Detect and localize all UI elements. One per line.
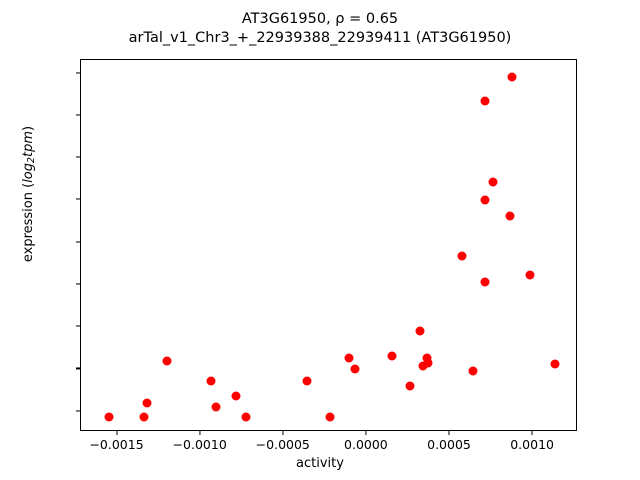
scatter-point <box>406 382 415 391</box>
scatter-point <box>480 196 489 205</box>
y-tick-mark <box>76 368 80 369</box>
scatter-point <box>140 412 149 421</box>
y-tick-mark <box>76 326 80 327</box>
scatter-point <box>105 412 114 421</box>
title-rho-stat: , ρ = 0.65 <box>326 11 398 27</box>
title-gene-name: AT3G61950 <box>242 11 326 27</box>
scatter-point <box>457 252 466 261</box>
scatter-point <box>326 412 335 421</box>
y-tick-mark <box>76 114 80 115</box>
title-line-1: AT3G61950, ρ = 0.65 <box>0 10 640 29</box>
scatter-point <box>507 72 516 81</box>
scatter-point <box>480 96 489 105</box>
x-axis-label: activity <box>0 456 640 471</box>
scatter-point <box>351 365 360 374</box>
x-tick-mark <box>199 431 200 435</box>
y-tick-mark <box>76 241 80 242</box>
scatter-point <box>387 351 396 360</box>
scatter-point <box>241 412 250 421</box>
x-tick-mark <box>365 431 366 435</box>
x-tick-label: −0.0015 <box>89 437 143 452</box>
y-tick-mark <box>76 283 80 284</box>
y-axis-label-log: log <box>21 163 36 183</box>
scatter-point <box>525 270 534 279</box>
y-tick-mark <box>76 199 80 200</box>
title-line-2: arTal_v1_Chr3_+_22939388_22939411 (AT3G6… <box>0 29 640 48</box>
plot-area <box>80 59 577 431</box>
y-axis-label-unit: tpm <box>21 131 36 157</box>
x-tick-mark <box>116 431 117 435</box>
x-tick-label: 0.0000 <box>344 437 388 452</box>
x-tick-mark <box>448 431 449 435</box>
scatter-point <box>480 277 489 286</box>
x-tick-mark <box>532 431 533 435</box>
x-tick-label: 0.0005 <box>427 437 471 452</box>
x-tick-mark <box>282 431 283 435</box>
scatter-figure: AT3G61950, ρ = 0.65 arTal_v1_Chr3_+_2293… <box>0 0 640 480</box>
scatter-point <box>416 326 425 335</box>
y-axis-label-suffix: ) <box>21 126 36 131</box>
y-axis-label-subscript: 2 <box>26 157 37 163</box>
scatter-point <box>424 358 433 367</box>
scatter-point <box>211 402 220 411</box>
y-axis-label-prefix: expression ( <box>21 183 36 262</box>
y-tick-mark <box>76 410 80 411</box>
x-tick-label: −0.0010 <box>173 437 227 452</box>
x-tick-label: −0.0005 <box>256 437 310 452</box>
scatter-point <box>469 367 478 376</box>
scatter-point <box>505 211 514 220</box>
scatter-point <box>303 377 312 386</box>
scatter-point <box>231 392 240 401</box>
scatter-point <box>163 356 172 365</box>
scatter-point <box>550 360 559 369</box>
scatter-point <box>206 377 215 386</box>
y-tick-mark <box>76 157 80 158</box>
scatter-point <box>344 353 353 362</box>
x-tick-label: 0.0010 <box>510 437 554 452</box>
y-tick-mark <box>76 72 80 73</box>
scatter-point <box>143 399 152 408</box>
figure-title: AT3G61950, ρ = 0.65 arTal_v1_Chr3_+_2293… <box>0 10 640 48</box>
y-axis-label: expression (log2tpm) <box>21 24 37 364</box>
scatter-point <box>489 177 498 186</box>
